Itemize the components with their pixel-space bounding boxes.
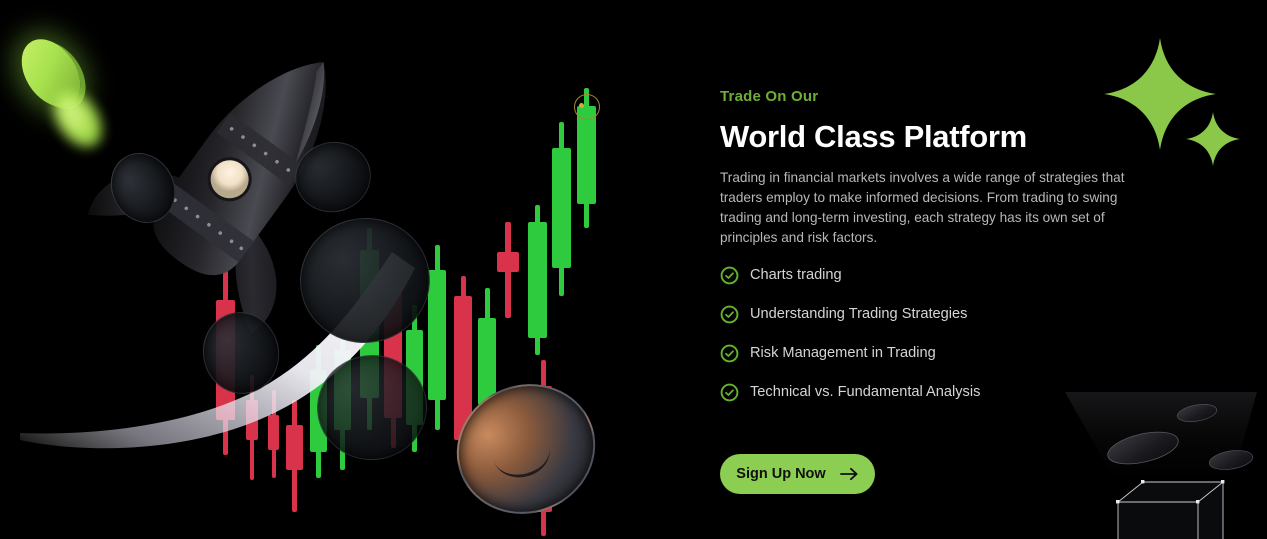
- list-item: Risk Management in Trading: [720, 340, 980, 366]
- arrow-right-icon: [840, 467, 859, 481]
- list-item: Understanding Trading Strategies: [720, 301, 980, 327]
- rocket-candlestick-illustration: [0, 0, 660, 539]
- sparkle-star-icon: [1186, 112, 1240, 166]
- hero-section: Trade On Our World Class Platform Tradin…: [0, 0, 1267, 539]
- check-circle-icon: [720, 344, 739, 363]
- feature-list: Charts trading Understanding Trading Str…: [720, 262, 980, 418]
- check-circle-icon: [720, 305, 739, 324]
- page-title: World Class Platform: [720, 119, 1027, 155]
- sign-up-button-label: Sign Up Now: [736, 466, 825, 482]
- list-item-label: Risk Management in Trading: [750, 345, 936, 361]
- list-item-label: Charts trading: [750, 267, 842, 283]
- hero-description: Trading in financial markets involves a …: [720, 168, 1138, 248]
- sign-up-button[interactable]: Sign Up Now: [720, 454, 875, 494]
- check-circle-icon: [720, 266, 739, 285]
- hero-content: Trade On Our World Class Platform Tradin…: [720, 0, 1150, 539]
- eyebrow-text: Trade On Our: [720, 88, 818, 105]
- check-circle-icon: [720, 383, 739, 402]
- list-item-label: Understanding Trading Strategies: [750, 306, 967, 322]
- list-item-label: Technical vs. Fundamental Analysis: [750, 384, 980, 400]
- gold-ring-icon: [574, 94, 600, 120]
- list-item: Charts trading: [720, 262, 980, 288]
- list-item: Technical vs. Fundamental Analysis: [720, 379, 980, 405]
